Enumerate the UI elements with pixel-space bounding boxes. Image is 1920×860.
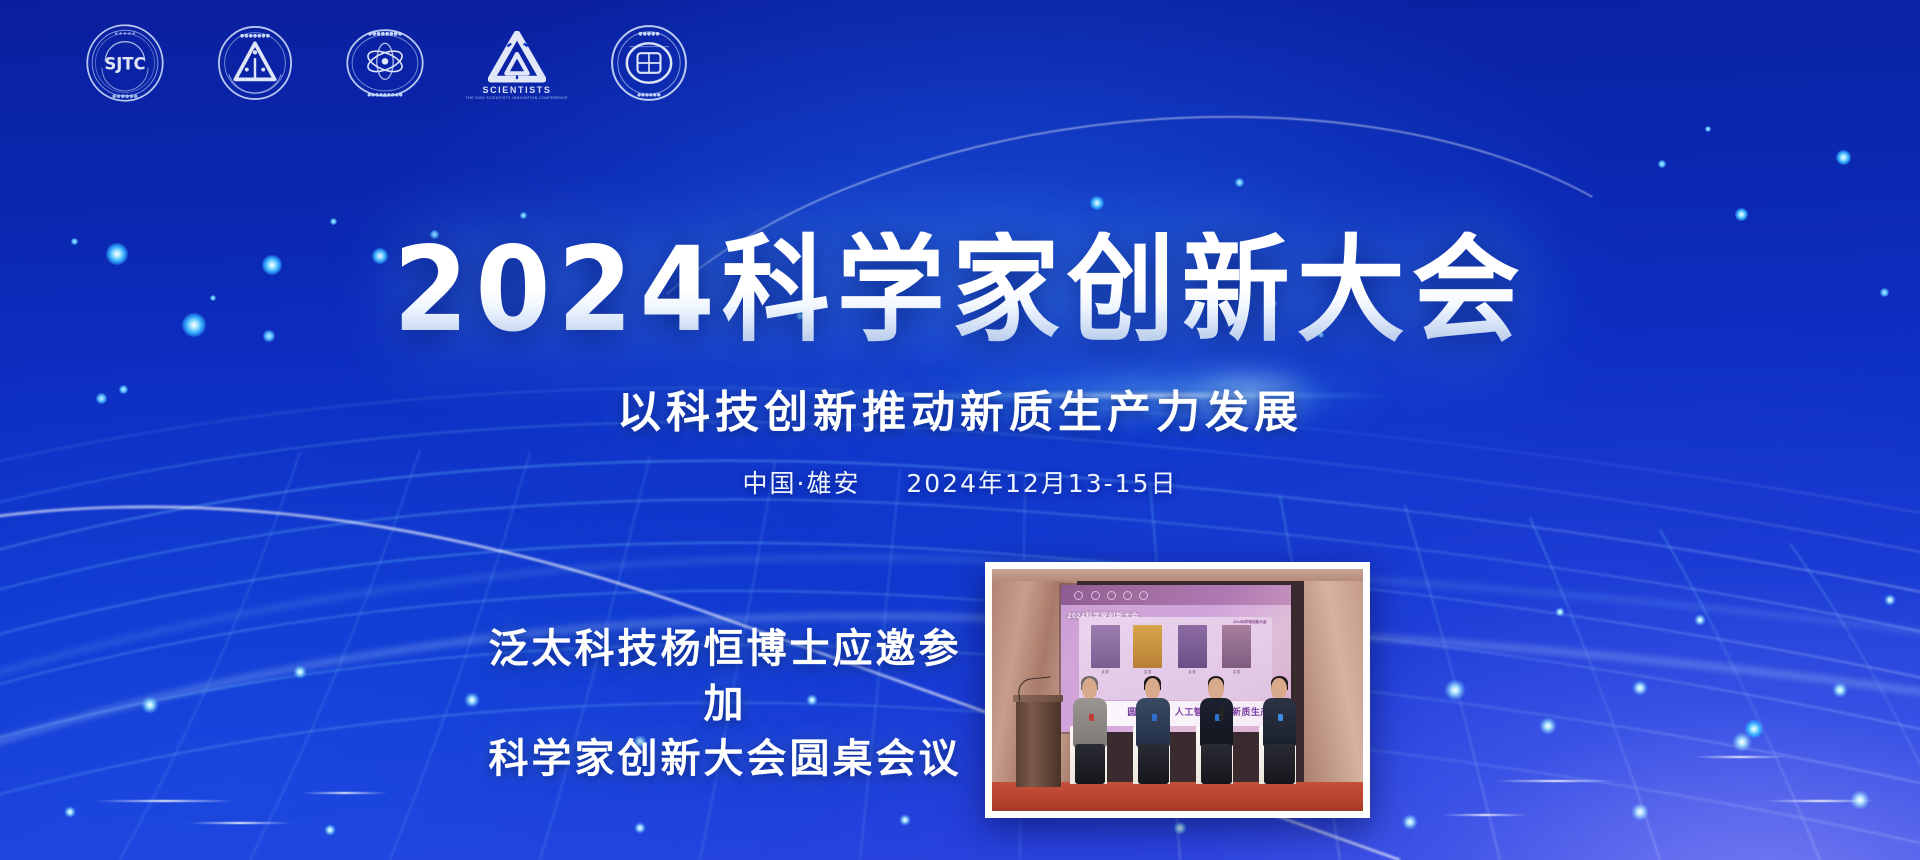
portrait-caption: 嘉 宾 (1220, 670, 1253, 675)
panelist-badge (1152, 714, 1157, 721)
svg-text:●●●●●●: ●●●●●● (637, 93, 661, 98)
panelist-legs (1075, 744, 1105, 784)
handheld-microphone-icon (1219, 706, 1224, 721)
building-silhouette (30, 732, 160, 860)
portrait-caption: 嘉 宾 (1131, 670, 1164, 675)
logo-shield-seal[interactable]: ●●●●● ●●●●●● (608, 22, 690, 109)
page-subtitle: 以科技创新推动新质生产力发展 (0, 376, 1920, 440)
delta-triangle-icon (488, 31, 546, 83)
circular-seal-icon: ●●●●● ●●●●●● (608, 22, 690, 104)
light-glint (1490, 780, 1620, 782)
light-glint (90, 800, 240, 802)
circular-seal-icon: SJTC ★★★★★ ●●●●●● (84, 22, 166, 104)
panelist-legs (1201, 744, 1231, 784)
panelist-portrait (1091, 625, 1120, 668)
photo-panelist (1131, 678, 1176, 784)
partner-logo-row: SJTC ★★★★★ ●●●●●● ●●●●●●● (84, 22, 690, 109)
panelist-head (1271, 678, 1286, 700)
panelist-torso (1073, 698, 1107, 747)
light-glint (1760, 800, 1880, 802)
building-silhouette (1490, 742, 1586, 860)
delta-logo-subcaption: THE 2024 SCIENTISTS INNOVATION CONFERENC… (466, 95, 568, 100)
light-particle (1836, 150, 1851, 165)
panelist-torso (1263, 698, 1297, 747)
light-glint (185, 822, 295, 824)
panelist-portrait (1178, 625, 1207, 668)
photo-wall-right (1304, 569, 1363, 782)
panelist-head (1145, 678, 1160, 700)
caption-block: 泛太科技杨恒博士应邀参加 科学家创新大会圆桌会议 (470, 622, 980, 788)
event-location: 中国·雄安 (743, 469, 861, 498)
light-particle (1745, 720, 1763, 738)
building-silhouette (690, 788, 754, 860)
photo-panelist (1068, 678, 1113, 784)
building-silhouette (172, 774, 268, 860)
svg-text:★★★★★: ★★★★★ (114, 31, 137, 37)
caption-line-1: 泛太科技杨恒博士应邀参加 (470, 622, 980, 732)
svg-text:●●●●●: ●●●●● (638, 31, 660, 37)
light-particle (1235, 178, 1244, 187)
panelist-legs (1138, 744, 1168, 784)
logo-triangle-seal[interactable]: ●●●●●●● (214, 22, 296, 109)
panelist-head (1082, 678, 1097, 700)
event-location-date: 中国·雄安 2024年12月13-15日 (0, 464, 1920, 500)
light-particle (1658, 160, 1666, 168)
headline-block: 2024科学家创新大会 以科技创新推动新质生产力发展 中国·雄安 2024年12… (0, 236, 1920, 500)
screen-icon (1139, 591, 1148, 600)
logo-atom-seal[interactable]: ●●●●●●●● ●●●●●●●●● (344, 22, 426, 109)
photo-podium (1016, 700, 1061, 787)
delta-logo-caption: SCIENTISTS (482, 85, 551, 95)
light-particle (1090, 196, 1104, 210)
photo-panelist (1194, 678, 1239, 784)
event-photo-frame[interactable]: 2024科学家创新大会 2024科学家创新大会 嘉 宾 嘉 宾 嘉 宾 嘉 宾 … (985, 562, 1370, 818)
svg-text:●●●●●●●●: ●●●●●●●● (368, 31, 403, 37)
screen-icon (1123, 591, 1132, 600)
panelist-portrait (1222, 625, 1251, 668)
panelist-torso (1136, 698, 1170, 747)
svg-text:●●●●●●●: ●●●●●●● (240, 33, 271, 39)
circular-seal-icon: ●●●●●●●● ●●●●●●●●● (344, 22, 426, 104)
circular-seal-icon: ●●●●●●● (214, 22, 296, 104)
svg-text:●●●●●●●●●: ●●●●●●●●● (367, 93, 402, 98)
photo-panelist (1257, 678, 1302, 784)
panelist-torso (1200, 698, 1234, 747)
page-title: 2024科学家创新大会 (393, 232, 1527, 351)
light-glint (300, 792, 390, 794)
screen-icon (1091, 591, 1100, 600)
panelist-badge (1089, 714, 1094, 721)
building-silhouette (1600, 665, 1750, 860)
building-silhouette (1770, 625, 1890, 860)
poster-canvas: SJTC ★★★★★ ●●●●●● ●●●●●●● (0, 0, 1920, 860)
portrait-caption: 嘉 宾 (1176, 670, 1209, 675)
svg-text:SJTC: SJTC (104, 55, 145, 74)
panel-discussion-photo: 2024科学家创新大会 2024科学家创新大会 嘉 宾 嘉 宾 嘉 宾 嘉 宾 … (992, 569, 1363, 811)
light-glint (1440, 814, 1530, 816)
light-glint (1690, 756, 1790, 758)
panelist-portrait (1133, 625, 1162, 668)
panelist-head (1208, 678, 1223, 700)
photo-ceiling (992, 569, 1363, 581)
light-particle (1705, 126, 1711, 132)
screen-icon (1107, 591, 1116, 600)
panelist-badge (1278, 714, 1283, 721)
light-particle (1735, 208, 1748, 221)
event-date: 2024年12月13-15日 (906, 469, 1177, 498)
portrait-caption: 嘉 宾 (1089, 670, 1122, 675)
svg-text:●●●●●●: ●●●●●● (112, 93, 138, 99)
panelist-legs (1264, 744, 1294, 784)
light-particle (520, 212, 527, 219)
logo-delta-mark[interactable]: SCIENTISTS THE 2024 SCIENTISTS INNOVATIO… (474, 23, 560, 109)
caption-line-2: 科学家创新大会圆桌会议 (470, 732, 980, 787)
light-particle (330, 218, 337, 225)
logo-sjtu-seal[interactable]: SJTC ★★★★★ ●●●●●● (84, 22, 166, 109)
